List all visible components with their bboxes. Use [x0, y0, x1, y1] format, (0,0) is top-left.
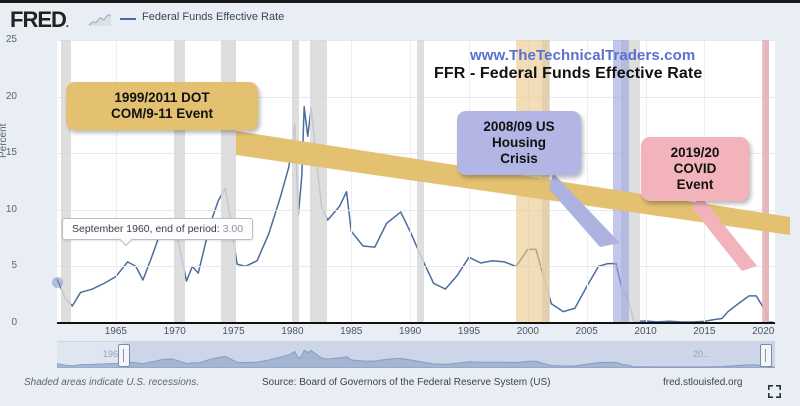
callout-covid-line-2: COVID [651, 161, 739, 177]
callout-housing-line-3: Crisis [467, 151, 571, 167]
callout-covid-line-1: 2019/20 [651, 145, 739, 161]
fred-chart-screenshot: FRED. Federal Funds Effective Rate Perce… [0, 0, 800, 403]
callout-covid-line-3: Event [651, 177, 739, 193]
callout-dotcom-line-2: COM/9-11 Event [76, 106, 248, 122]
tooltip-label: September 1960, end of period: [72, 223, 220, 235]
callout-housing-crisis: 2008/09 US Housing Crisis [457, 111, 581, 175]
callout-housing-line-1: 2008/09 US [467, 119, 571, 135]
callout-housing-line-2: Housing [467, 135, 571, 151]
callout-dotcom: 1999/2011 DOT COM/9-11 Event [66, 82, 258, 130]
callout-dotcom-line-1: 1999/2011 DOT [76, 90, 248, 106]
callout-covid-event: 2019/20 COVID Event [641, 137, 749, 201]
callout-pointers [0, 3, 800, 406]
tooltip-value: 3.00 [223, 223, 243, 235]
data-point-tooltip: September 1960, end of period: 3.00 [62, 218, 253, 240]
